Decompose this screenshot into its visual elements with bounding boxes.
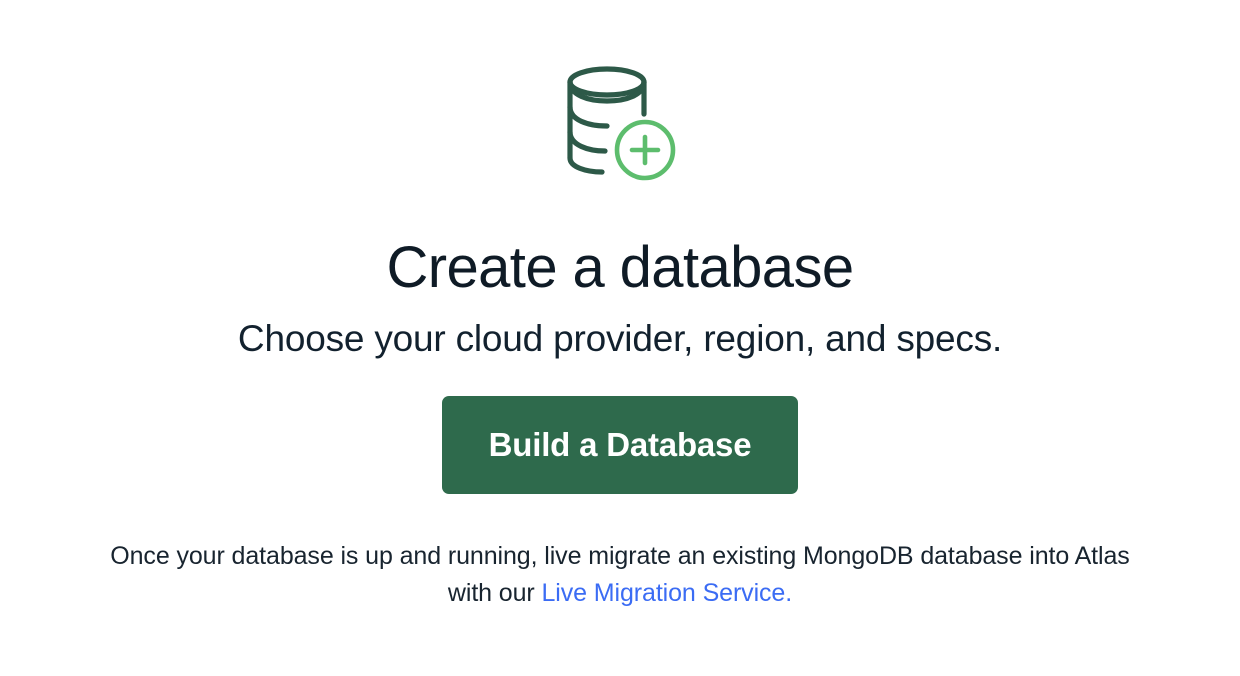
- live-migration-footnote: Once your database is up and running, li…: [90, 538, 1150, 612]
- create-database-empty-state: Create a database Choose your cloud prov…: [0, 0, 1240, 676]
- database-add-icon: [555, 62, 685, 182]
- build-a-database-button[interactable]: Build a Database: [442, 396, 798, 494]
- page-subtitle: Choose your cloud provider, region, and …: [238, 316, 1002, 362]
- live-migration-service-link[interactable]: Live Migration Service.: [542, 579, 793, 607]
- page-title: Create a database: [386, 234, 853, 302]
- cylinder-bottom-curve: [570, 158, 602, 172]
- cylinder-top-ellipse: [570, 69, 644, 95]
- cylinder-rib-2: [570, 107, 607, 126]
- cylinder-rib-3: [570, 132, 605, 151]
- build-a-database-button-label: Build a Database: [489, 426, 752, 464]
